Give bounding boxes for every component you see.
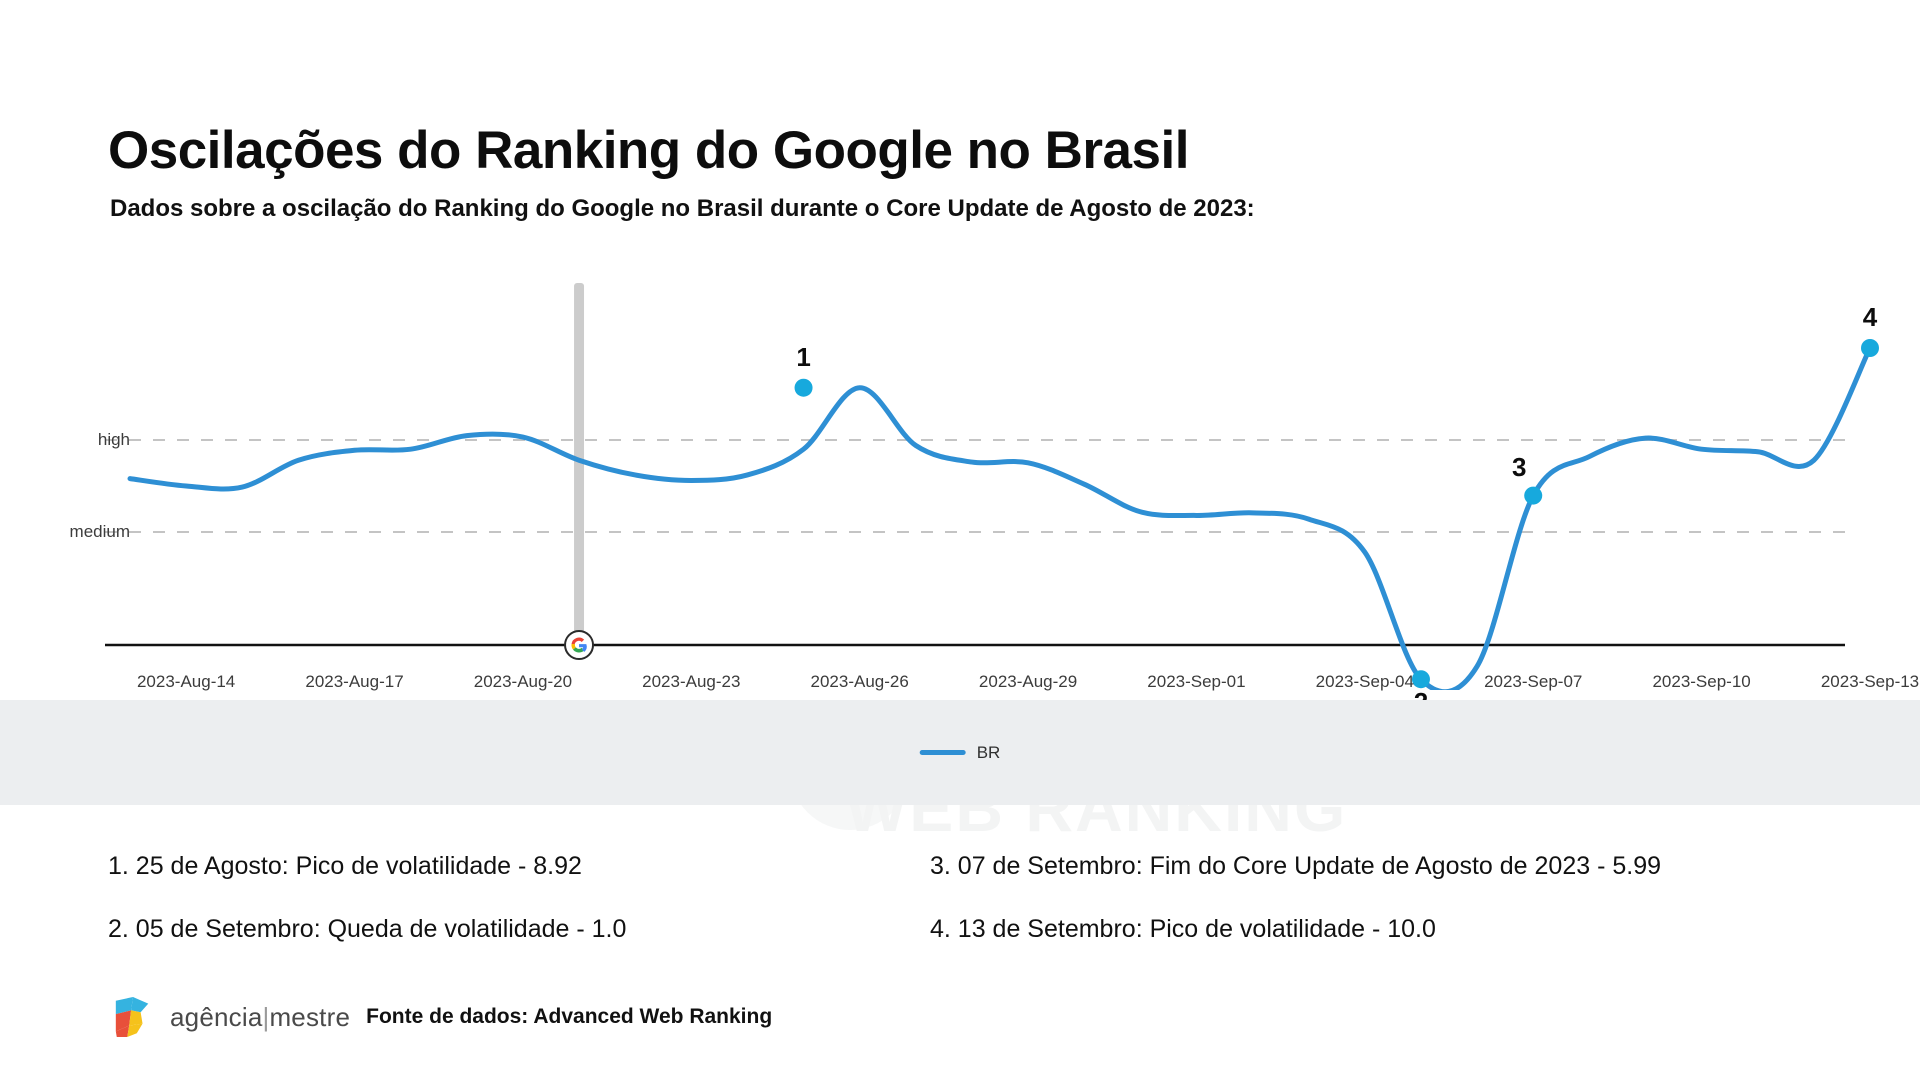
infographic-page: Oscilações do Ranking do Google no Brasi… [0,0,1920,1080]
y-axis-label-high: high [10,430,130,450]
data-point-marker[interactable] [795,379,813,397]
logo-word-b: mestre [269,1002,350,1032]
agencia-mestre-wordmark: agência|mestre [170,1002,350,1033]
annotation-item-3: 3. 07 de Setembro: Fim do Core Update de… [930,852,1661,881]
data-point-marker[interactable] [1524,487,1542,505]
x-axis-tick-label: 2023-Sep-10 [1612,672,1792,692]
x-axis-tick-label: 2023-Aug-26 [770,672,950,692]
x-axis-tick-label: 2023-Sep-07 [1443,672,1623,692]
legend[interactable]: BR [920,743,1001,763]
logo-word-a: agência [170,1002,262,1032]
x-axis-tick-label: 2023-Aug-17 [265,672,445,692]
series-line-br[interactable] [130,348,1870,690]
x-axis-tick-label: 2023-Sep-01 [1106,672,1286,692]
legend-band: BR [0,700,1920,805]
volatility-chart: Advanced WEB RANKING [0,280,1920,690]
agencia-mestre-logo-icon [112,995,154,1039]
x-axis-tick-label: 2023-Aug-29 [938,672,1118,692]
peak-label-4: 4 [1850,302,1890,333]
page-title: Oscilações do Ranking do Google no Brasi… [108,120,1189,181]
annotation-item-2: 2. 05 de Setembro: Queda de volatilidade… [108,915,626,944]
peak-label-1: 1 [784,342,824,373]
x-axis-tick-label: 2023-Aug-14 [96,672,276,692]
peak-label-3: 3 [1499,452,1539,483]
legend-swatch-br [920,750,966,755]
legend-label-br: BR [977,743,1001,763]
x-axis-tick-label: 2023-Aug-23 [601,672,781,692]
y-axis-label-medium: medium [10,522,130,542]
x-axis-tick-label: 2023-Sep-13 [1780,672,1920,692]
footer: agência|mestre Fonte de dados: Advanced … [112,995,772,1039]
page-subtitle: Dados sobre a oscilação do Ranking do Go… [110,195,1255,223]
data-point-marker[interactable] [1861,339,1879,357]
annotation-item-1: 1. 25 de Agosto: Pico de volatilidade - … [108,852,582,881]
data-source-text: Fonte de dados: Advanced Web Ranking [366,1005,772,1029]
chart-plot-svg [0,280,1920,690]
annotation-item-4: 4. 13 de Setembro: Pico de volatilidade … [930,915,1436,944]
x-axis-tick-label: 2023-Aug-20 [433,672,613,692]
google-g-icon[interactable] [565,631,593,659]
